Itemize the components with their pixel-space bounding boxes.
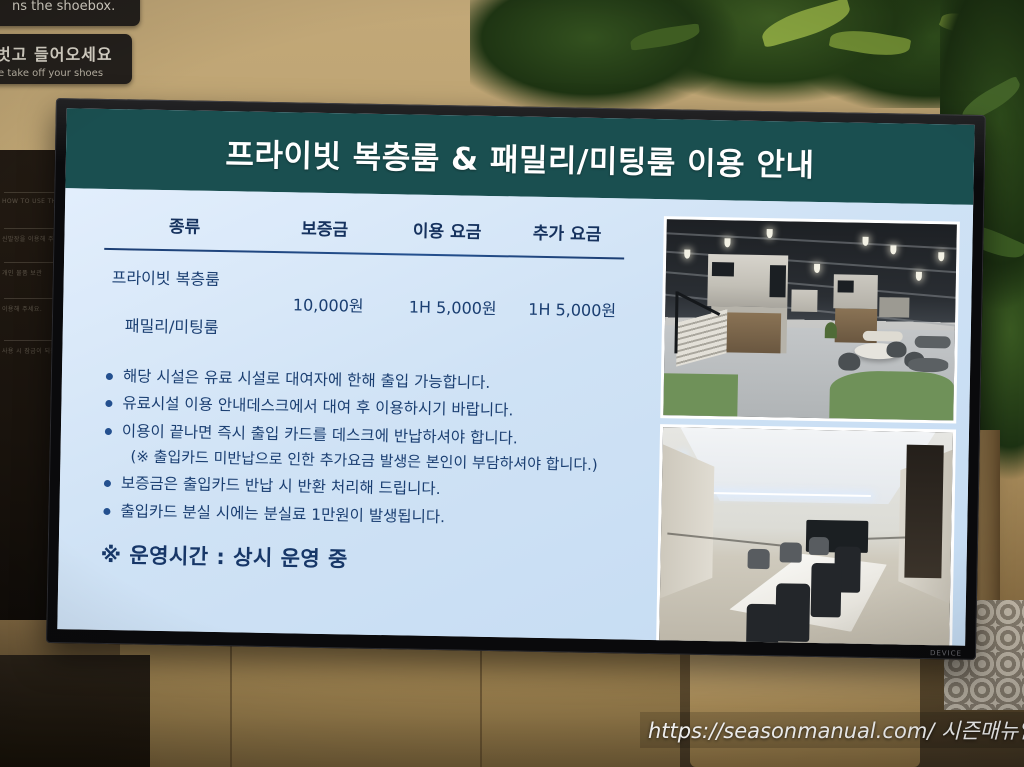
tv-brand-label: DEVICE (930, 649, 962, 658)
shoes-sign: 벗고 들어오세요 e take off your shoes (0, 34, 132, 84)
shoebox-sign-english: ns the shoebox. (0, 0, 140, 26)
tv-screen: 프라이빗 복층룸 & 패밀리/미팅룸 이용 안내 종류 보증금 이용 요금 추가… (57, 108, 974, 646)
shoebox-sign-english-text: ns the shoebox. (0, 0, 140, 14)
note-text: 해당 시설은 유료 시설로 대여자에 한해 출입 가능합니다. (123, 367, 491, 393)
photo-scene: HOW TO USE THE SHOE LC 신발장을 이용해 주세요. 개인 … (0, 0, 1024, 767)
note-text: 보증금은 출입카드 반납 시 반환 처리해 드립니다. (121, 474, 441, 499)
shoes-sign-korean-text: 벗고 들어오세요 (0, 34, 132, 65)
list-item: 보증금은 출입카드 반납 시 반환 처리해 드립니다. (104, 474, 664, 504)
lower-left-shadow (0, 655, 150, 767)
photo-meeting-room (659, 427, 953, 646)
note-text: 출입카드 분실 시에는 분실료 1만원이 발생됩니다. (120, 502, 445, 527)
note-text: 유료시설 이용 안내데스크에서 대여 후 이용하시기 바랍니다. (122, 395, 513, 422)
bullet-icon (104, 480, 111, 487)
notes-list: 해당 시설은 유료 시설로 대여자에 한해 출입 가능합니다. 유료시설 이용 … (103, 367, 666, 539)
bullet-icon (105, 400, 112, 407)
price-table-body: 프라이빗 복층룸 패밀리/미팅룸 10,000원 1H 5,000원 1H 5,… (103, 250, 625, 352)
operating-hours-line: ※ 운영시간 : 상시 운영 중 (100, 539, 348, 574)
list-item: 해당 시설은 유료 시설로 대여자에 한해 출입 가능합니다. (106, 367, 666, 397)
wall-cabinet (120, 640, 680, 767)
row-kind-family-meeting: 패밀리/미팅룸 (125, 312, 219, 338)
cell-deposit: 10,000원 (268, 291, 388, 317)
list-item: 유료시설 이용 안내데스크에서 대여 후 이용하시기 바랍니다. (105, 394, 665, 424)
col-header-kind: 종류 (104, 211, 264, 239)
bullet-icon (103, 507, 110, 514)
watermark: https://seasonmanual.com/ 시즌매뉴얼 (640, 712, 1024, 748)
cell-extra-fee: 1H 5,000원 (513, 295, 631, 321)
price-table-header-row: 종류 보증금 이용 요금 추가 요금 (104, 211, 624, 246)
wall-mounted-tv: DEVICE 프라이빗 복층룸 & 패밀리/미팅룸 이용 안내 종류 보증금 이… (46, 98, 986, 660)
note-subtext: (※ 출입카드 미반납으로 인한 추가요금 발생은 본인이 부담하셔야 합니다.… (130, 446, 664, 477)
list-item: 출입카드 분실 시에는 분실료 1만원이 발생됩니다. (103, 501, 663, 531)
photo-loft-lounge (663, 219, 957, 420)
watermark-text: https://seasonmanual.com/ 시즌매뉴얼 (648, 719, 1024, 743)
note-text: 이용이 끝나면 즉시 출입 카드를 데스크에 반납하셔야 합니다. (122, 422, 518, 449)
bullet-icon (106, 373, 113, 380)
shoes-sign-english-text: e take off your shoes (0, 65, 132, 79)
row-kind-private-loft: 프라이빗 복층룸 (112, 264, 221, 290)
slide-title: 프라이빗 복층룸 & 패밀리/미팅룸 이용 안내 (225, 129, 815, 185)
bullet-icon (105, 428, 112, 435)
slide-body: 종류 보증금 이용 요금 추가 요금 프라이빗 복층룸 패밀리/미팅룸 10,0… (57, 188, 973, 646)
col-header-usage-fee: 이용 요금 (384, 216, 509, 243)
cell-usage-fee: 1H 5,000원 (390, 293, 515, 319)
price-table: 종류 보증금 이용 요금 추가 요금 프라이빗 복층룸 패밀리/미팅룸 10,0… (103, 211, 625, 352)
col-header-deposit: 보증금 (264, 214, 384, 241)
col-header-extra-fee: 추가 요금 (509, 218, 624, 245)
